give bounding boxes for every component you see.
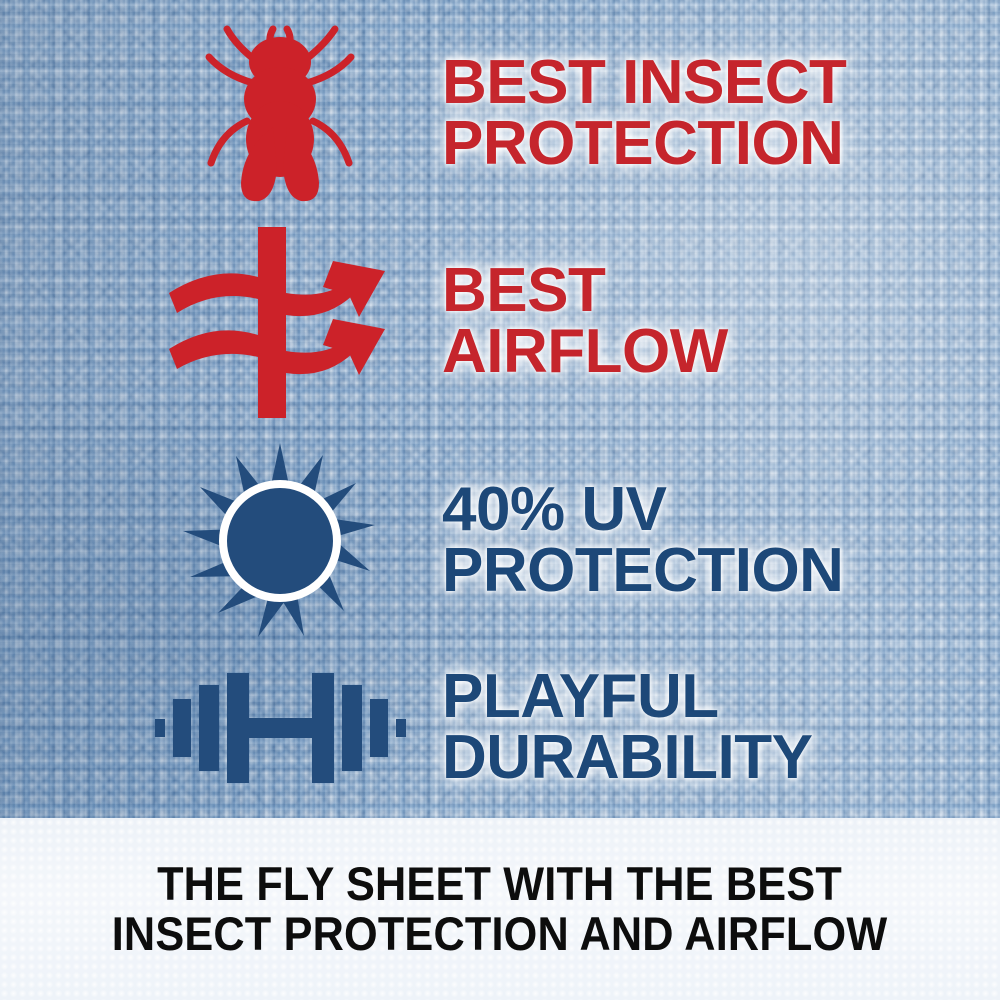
feature-heading-insect-protection: BEST INSECT PROTECTION: [442, 53, 1000, 175]
feature-heading-airflow: BEST AIRFLOW: [442, 261, 1000, 383]
icon-slot-durability: [120, 648, 440, 808]
dumbbell-icon: [153, 663, 408, 793]
feature-row-uv-protection: 40% UV PROTECTION: [120, 436, 1000, 646]
airflow-through-barrier-icon: [163, 225, 398, 420]
sun-rays: [183, 443, 375, 637]
feature-heading-durability: PLAYFUL DURABILITY: [442, 667, 1000, 789]
feature-row-durability: PLAYFUL DURABILITY: [120, 648, 1000, 808]
feature-heading-uv-protection: 40% UV PROTECTION: [442, 480, 1000, 602]
caption-text: THE FLY SHEET WITH THE BEST INSECT PROTE…: [112, 859, 888, 959]
icon-slot-airflow: [120, 222, 440, 422]
feature-row-insect-protection: BEST INSECT PROTECTION: [120, 14, 1000, 214]
icon-slot-insect-protection: [120, 14, 440, 214]
text-slot-insect-protection: BEST INSECT PROTECTION: [440, 53, 1000, 175]
infographic-poster: BEST INSECT PROTECTION: [0, 0, 1000, 1000]
icon-slot-uv-protection: [120, 436, 440, 646]
text-slot-uv-protection: 40% UV PROTECTION: [440, 480, 1000, 602]
sun-burst-icon: [180, 441, 380, 641]
feature-row-airflow: BEST AIRFLOW: [120, 222, 1000, 422]
fly-icon: [185, 17, 375, 212]
caption-bar: THE FLY SHEET WITH THE BEST INSECT PROTE…: [0, 818, 1000, 1000]
text-slot-airflow: BEST AIRFLOW: [440, 261, 1000, 383]
feature-list: BEST INSECT PROTECTION: [0, 0, 1000, 818]
text-slot-durability: PLAYFUL DURABILITY: [440, 667, 1000, 789]
